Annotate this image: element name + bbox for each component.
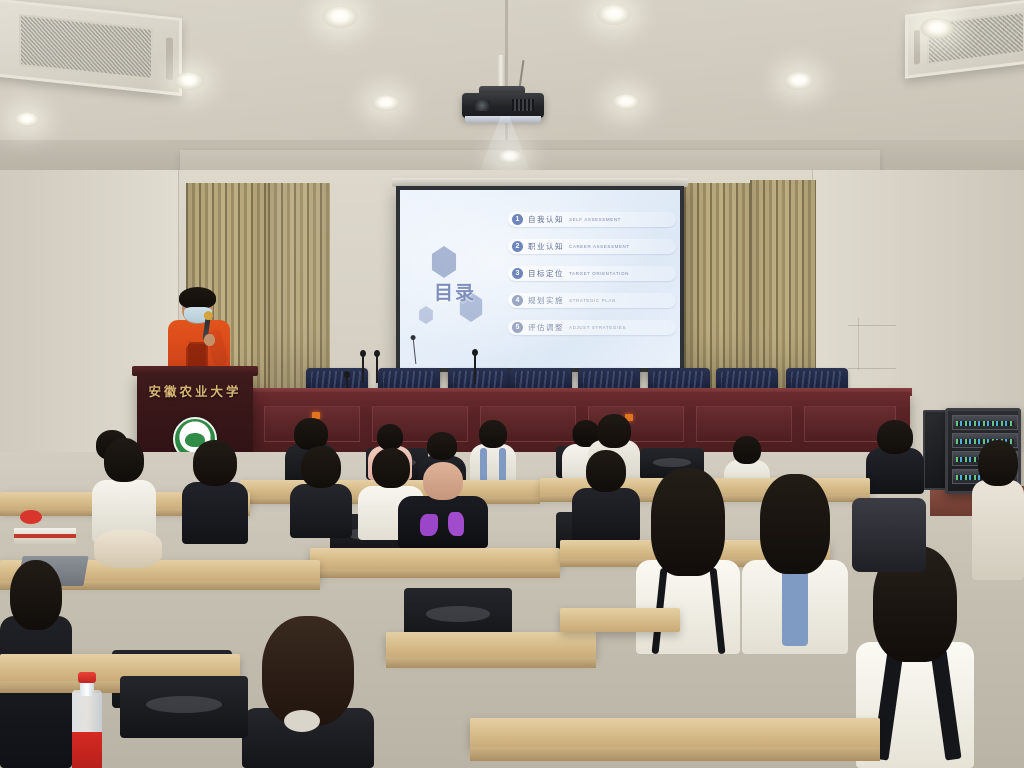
student-head xyxy=(427,432,457,460)
student-head xyxy=(104,438,144,482)
gooseneck-microphone-icon xyxy=(362,355,364,383)
ac-vane xyxy=(914,30,920,65)
ac-vane xyxy=(166,37,173,80)
student-desk xyxy=(470,718,880,748)
toc-label-en: SELF ASSESSMENT xyxy=(569,217,621,222)
seated-student xyxy=(242,616,374,768)
toc-item: 5 评估调整 ADJUST STRATEGIES xyxy=(508,320,676,335)
seated-student xyxy=(742,474,848,654)
toc-item: 3 目标定位 TARGET ORIENTATION xyxy=(508,266,676,281)
downlight-icon xyxy=(14,112,40,127)
ceiling-seam xyxy=(505,0,508,150)
student-torso xyxy=(972,480,1024,580)
student-torso xyxy=(290,484,352,538)
ac-grille xyxy=(19,14,153,80)
downlight-icon xyxy=(920,18,954,39)
student-seat xyxy=(120,676,248,738)
projector-lens xyxy=(474,100,490,111)
slide-toc-list: 1 自我认知 SELF ASSESSMENT 2 职业认知 CAREER ASS… xyxy=(508,212,676,347)
gooseneck-microphone-icon xyxy=(474,354,476,384)
student-head xyxy=(651,468,725,576)
student-desk xyxy=(310,548,560,570)
wall-panel-seam xyxy=(848,368,896,369)
toc-number: 5 xyxy=(512,322,523,333)
student-desk-edge xyxy=(386,657,596,668)
slide-surface: 目录 1 自我认知 SELF ASSESSMENT 2 职业认知 CAREER … xyxy=(400,190,680,368)
wall-panel-seam xyxy=(858,318,859,370)
university-name: 安徽农业大学 xyxy=(137,381,253,400)
toc-label-cn: 自我认知 xyxy=(528,214,564,225)
seated-student xyxy=(572,450,640,542)
student-head xyxy=(301,446,341,488)
window-curtain xyxy=(268,183,330,388)
student-head xyxy=(479,420,507,448)
toc-item: 1 自我认知 SELF ASSESSMENT xyxy=(508,212,676,227)
toc-label-cn: 评估调整 xyxy=(528,322,564,333)
rack-case-lid xyxy=(923,410,947,490)
student-torso xyxy=(866,448,924,494)
toc-label-cn: 职业认知 xyxy=(528,241,564,252)
student-torso xyxy=(398,496,488,548)
slide-heading: 目录 xyxy=(434,278,476,305)
downlight-icon xyxy=(372,95,400,111)
student-desk-edge xyxy=(310,569,560,578)
gooseneck-microphone-icon xyxy=(346,376,348,388)
downlight-icon xyxy=(498,150,522,163)
projector-vent xyxy=(512,99,534,111)
red-object xyxy=(20,510,42,524)
av-unit[interactable] xyxy=(952,415,1018,430)
toc-item: 2 职业认知 CAREER ASSESSMENT xyxy=(508,239,676,254)
seated-student xyxy=(866,420,924,494)
seated-student xyxy=(92,438,156,542)
wall-panel-seam xyxy=(848,325,896,326)
student-head xyxy=(733,436,761,464)
downlight-icon xyxy=(322,6,358,28)
toc-label-en: ADJUST STRATEGIES xyxy=(569,325,626,330)
toc-label-cn: 目标定位 xyxy=(528,268,564,279)
student-head xyxy=(760,474,830,574)
presenter-hair xyxy=(179,287,216,309)
downlight-icon xyxy=(174,72,204,90)
seated-student xyxy=(290,446,352,538)
student-head xyxy=(262,616,354,726)
seated-student xyxy=(398,462,488,548)
projection-screen: 目录 1 自我认知 SELF ASSESSMENT 2 职业认知 CAREER … xyxy=(396,186,684,372)
student-head xyxy=(423,462,463,500)
window-curtain xyxy=(750,180,816,395)
lecture-hall-scene: 目录 1 自我认知 SELF ASSESSMENT 2 职业认知 CAREER … xyxy=(0,0,1024,768)
shirt-graphic-icon xyxy=(448,512,464,536)
presenter-hand xyxy=(204,334,215,346)
toc-number: 1 xyxy=(512,214,523,225)
bottle-cap xyxy=(78,672,96,683)
toc-number: 3 xyxy=(512,268,523,279)
av-led-row xyxy=(956,421,1014,426)
toc-label-en: CAREER ASSESSMENT xyxy=(569,244,630,249)
student-head xyxy=(877,420,913,454)
student-head xyxy=(193,440,237,486)
overall-strap xyxy=(782,566,808,646)
shirt-graphic-icon xyxy=(420,514,438,536)
student-desk xyxy=(560,608,680,632)
toc-item: 4 规划实施 STRATEGIC PLAN xyxy=(508,293,676,308)
student-torso xyxy=(182,482,248,544)
downlight-icon xyxy=(597,4,631,25)
overall-strap xyxy=(499,448,506,482)
student-head xyxy=(597,414,631,448)
gooseneck-microphone-icon xyxy=(376,355,378,383)
student-desk xyxy=(386,632,596,658)
toc-label-en: STRATEGIC PLAN xyxy=(569,298,616,303)
toc-number: 2 xyxy=(512,241,523,252)
window-curtain xyxy=(684,183,754,388)
seated-student xyxy=(972,440,1024,580)
student-head xyxy=(10,560,62,630)
student-torso xyxy=(572,488,640,542)
toc-label-cn: 规划实施 xyxy=(528,295,564,306)
water-bottle[interactable] xyxy=(72,672,102,768)
toc-number: 4 xyxy=(512,295,523,306)
hair-tie-icon xyxy=(284,710,320,732)
downlight-icon xyxy=(612,94,640,110)
downlight-icon xyxy=(784,72,814,90)
backpack-icon xyxy=(852,498,926,572)
student-head xyxy=(586,450,626,492)
projector-icon xyxy=(462,93,544,118)
toc-label-en: TARGET ORIENTATION xyxy=(569,271,629,276)
seated-student xyxy=(182,440,248,544)
student-desk-edge xyxy=(470,747,880,761)
student-head xyxy=(377,424,403,450)
books-stack xyxy=(14,528,76,544)
backpack-icon xyxy=(94,530,162,568)
student-head xyxy=(978,440,1018,486)
bottle-label xyxy=(72,732,102,768)
